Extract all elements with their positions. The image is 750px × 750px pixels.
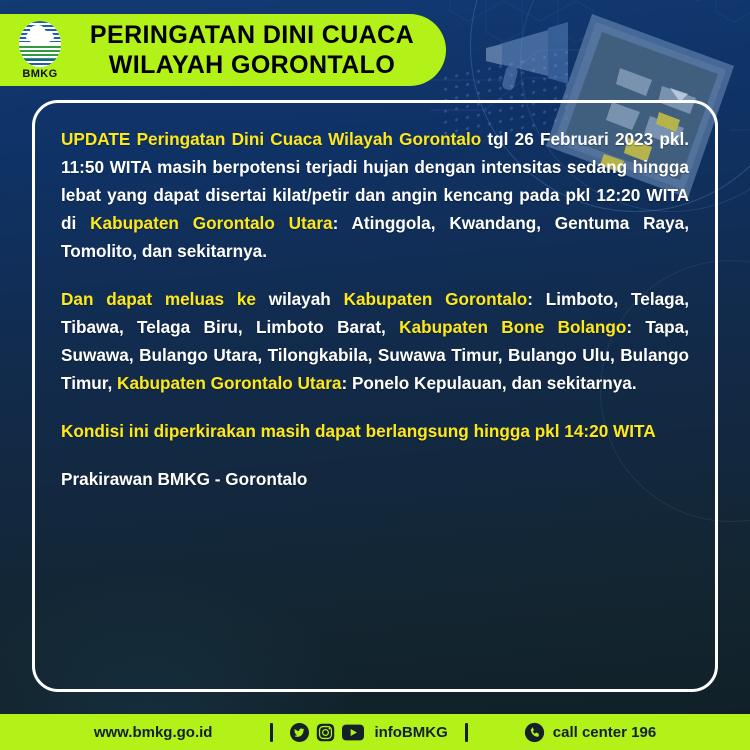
instagram-icon[interactable] bbox=[316, 723, 335, 742]
page-title-line2: WILAYAH GORONTALO bbox=[80, 50, 424, 80]
warning-paragraph-2: Dan dapat meluas ke wilayah Kabupaten Go… bbox=[61, 285, 689, 397]
page-title: PERINGATAN DINI CUACA WILAYAH GORONTALO bbox=[76, 20, 446, 80]
highlighted-text: Dan dapat meluas ke bbox=[61, 289, 256, 309]
highlighted-text: Kabupaten Gorontalo Utara bbox=[117, 373, 341, 393]
body-text: : Ponelo Kepulauan, dan sekitarnya. bbox=[341, 373, 636, 393]
weather-warning-poster: BMKG PERINGATAN DINI CUACA WILAYAH GORON… bbox=[0, 0, 750, 750]
twitter-icon[interactable] bbox=[290, 723, 309, 742]
warning-card: UPDATE Peringatan Dini Cuaca Wilayah Gor… bbox=[32, 100, 718, 692]
header-banner: BMKG PERINGATAN DINI CUACA WILAYAH GORON… bbox=[0, 14, 446, 86]
page-title-line1: PERINGATAN DINI CUACA bbox=[80, 20, 424, 50]
social-links[interactable]: infoBMKG bbox=[273, 723, 464, 742]
bmkg-logo-label: BMKG bbox=[22, 68, 57, 80]
phone-icon bbox=[524, 722, 545, 743]
highlighted-text: Kabupaten Bone Bolango bbox=[399, 317, 626, 337]
youtube-icon[interactable] bbox=[342, 724, 364, 741]
call-center-label[interactable]: call center 196 bbox=[553, 724, 656, 741]
social-handle[interactable]: infoBMKG bbox=[374, 724, 447, 741]
highlighted-text: Kabupaten Gorontalo bbox=[344, 289, 528, 309]
footer-bar: www.bmkg.go.id infoBMKG bbox=[0, 714, 750, 750]
warning-duration-text: Kondisi ini diperkirakan masih dapat ber… bbox=[61, 417, 689, 445]
body-text: wilayah bbox=[256, 289, 344, 309]
bmkg-logo: BMKG bbox=[4, 21, 76, 80]
warning-paragraph-1: UPDATE Peringatan Dini Cuaca Wilayah Gor… bbox=[61, 125, 689, 265]
website-link[interactable]: www.bmkg.go.id bbox=[94, 724, 271, 741]
highlighted-text: UPDATE Peringatan Dini Cuaca Wilayah Gor… bbox=[61, 129, 481, 149]
signature-text: Prakirawan BMKG - Gorontalo bbox=[61, 465, 689, 493]
bmkg-logo-icon bbox=[19, 21, 61, 67]
highlighted-text: Kabupaten Gorontalo Utara bbox=[90, 213, 333, 233]
megaphone-icon bbox=[470, 18, 580, 108]
call-center[interactable]: call center 196 bbox=[468, 722, 656, 743]
